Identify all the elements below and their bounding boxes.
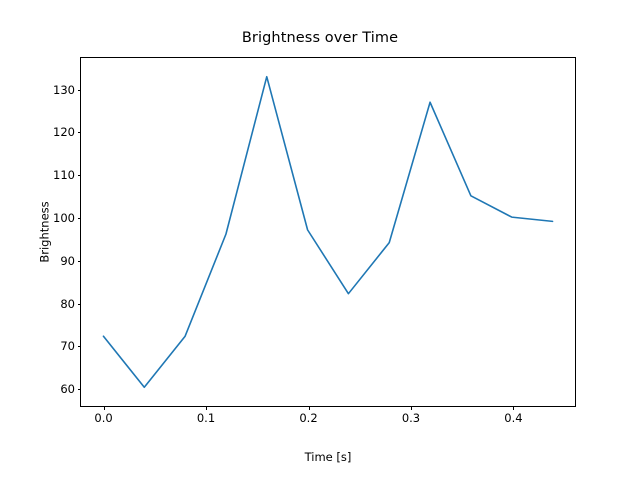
y-axis-label-text: Brightness <box>38 201 52 262</box>
x-axis-tick-label: 0.3 <box>402 411 420 425</box>
data-series-line <box>103 77 552 388</box>
y-axis-label: Brightness <box>14 57 75 407</box>
y-axis-tick-mark <box>78 175 82 176</box>
x-axis-tick-label: 0.1 <box>197 411 215 425</box>
x-axis-tick-label: 0.0 <box>94 411 112 425</box>
x-axis-tick-label: 0.4 <box>504 411 522 425</box>
page-title: Brightness over Time <box>0 30 640 46</box>
x-axis-tick-mark <box>206 406 207 410</box>
line-plot-svg <box>81 58 575 406</box>
y-axis-tick-mark <box>78 90 82 91</box>
plot-axes: 607080901001101201300.00.10.20.30.4 <box>80 57 576 407</box>
y-axis-tick-mark <box>78 389 82 390</box>
y-axis-tick-mark <box>78 346 82 347</box>
figure-canvas: Brightness over Time 6070809010011012013… <box>0 0 640 480</box>
x-axis-tick-mark <box>104 406 105 410</box>
y-axis-tick-mark <box>78 218 82 219</box>
x-axis-tick-mark <box>309 406 310 410</box>
y-axis-tick-mark <box>78 132 82 133</box>
x-axis-tick-mark <box>411 406 412 410</box>
y-axis-tick-mark <box>78 261 82 262</box>
x-axis-tick-label: 0.2 <box>299 411 317 425</box>
y-axis-tick-mark <box>78 304 82 305</box>
x-axis-label: Time [s] <box>80 450 576 464</box>
x-axis-tick-mark <box>513 406 514 410</box>
